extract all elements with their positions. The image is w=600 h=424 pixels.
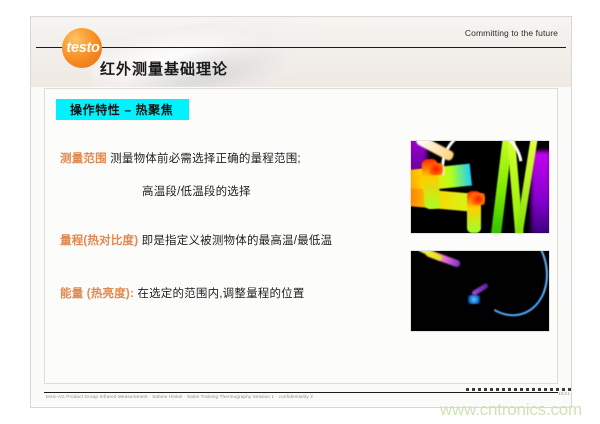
bullet-3-lead: 能量 (热亮度): (60, 288, 134, 300)
header-divider-line (36, 47, 566, 48)
thermal-bottom-blue-tip (468, 295, 480, 304)
bullet-2-lead: 量程(热对比度) (60, 235, 138, 247)
page-title: 红外测量基础理论 (100, 58, 228, 79)
testo-logo: testo (62, 28, 102, 68)
bullet-1-lead: 测量范围 (60, 153, 107, 165)
footer-credit-text: testo AG Product Group Infrared Measurem… (46, 394, 313, 399)
bullet-item-1: 测量范围 测量物体前必需选择正确的量程范围; (60, 150, 301, 166)
section-subtitle-bar: 操作特性 – 热聚焦 (56, 99, 189, 120)
bullet-item-3: 能量 (热亮度): 在选定的范围内,调整量程的位置 (60, 285, 305, 301)
bullet-1-body: 测量物体前必需选择正确的量程范围; (107, 153, 301, 165)
footer-divider-line (44, 392, 558, 393)
thermal-image-dark-traces (410, 250, 550, 332)
site-watermark: www.cntronics.com (440, 400, 582, 420)
company-tagline: Committing to the future (465, 28, 558, 38)
bullet-3-body: 在选定的范围内,调整量程的位置 (134, 288, 305, 300)
footer-page-number: 10/21 (558, 391, 570, 396)
thermal-top-hotspot-2 (471, 193, 485, 205)
section-subtitle-text: 操作特性 – 热聚焦 (70, 101, 173, 118)
footer-dashed-decoration (466, 388, 572, 391)
thermal-top-hotspot-1 (429, 163, 443, 175)
logo-wordmark: testo (58, 41, 108, 55)
bullet-item-2: 量程(热对比度) 即是指定义被测物体的最高温/最低温 (60, 232, 332, 248)
bullet-item-1-continuation: 高温段/低温段的选择 (142, 183, 251, 199)
thermal-image-insulators (410, 140, 550, 234)
thermal-top-violet-right (531, 151, 550, 234)
bullet-2-body: 即是指定义被测物体的最高温/最低温 (138, 235, 332, 247)
presentation-slide: Committing to the future testo 红外测量基础理论 … (0, 0, 600, 424)
